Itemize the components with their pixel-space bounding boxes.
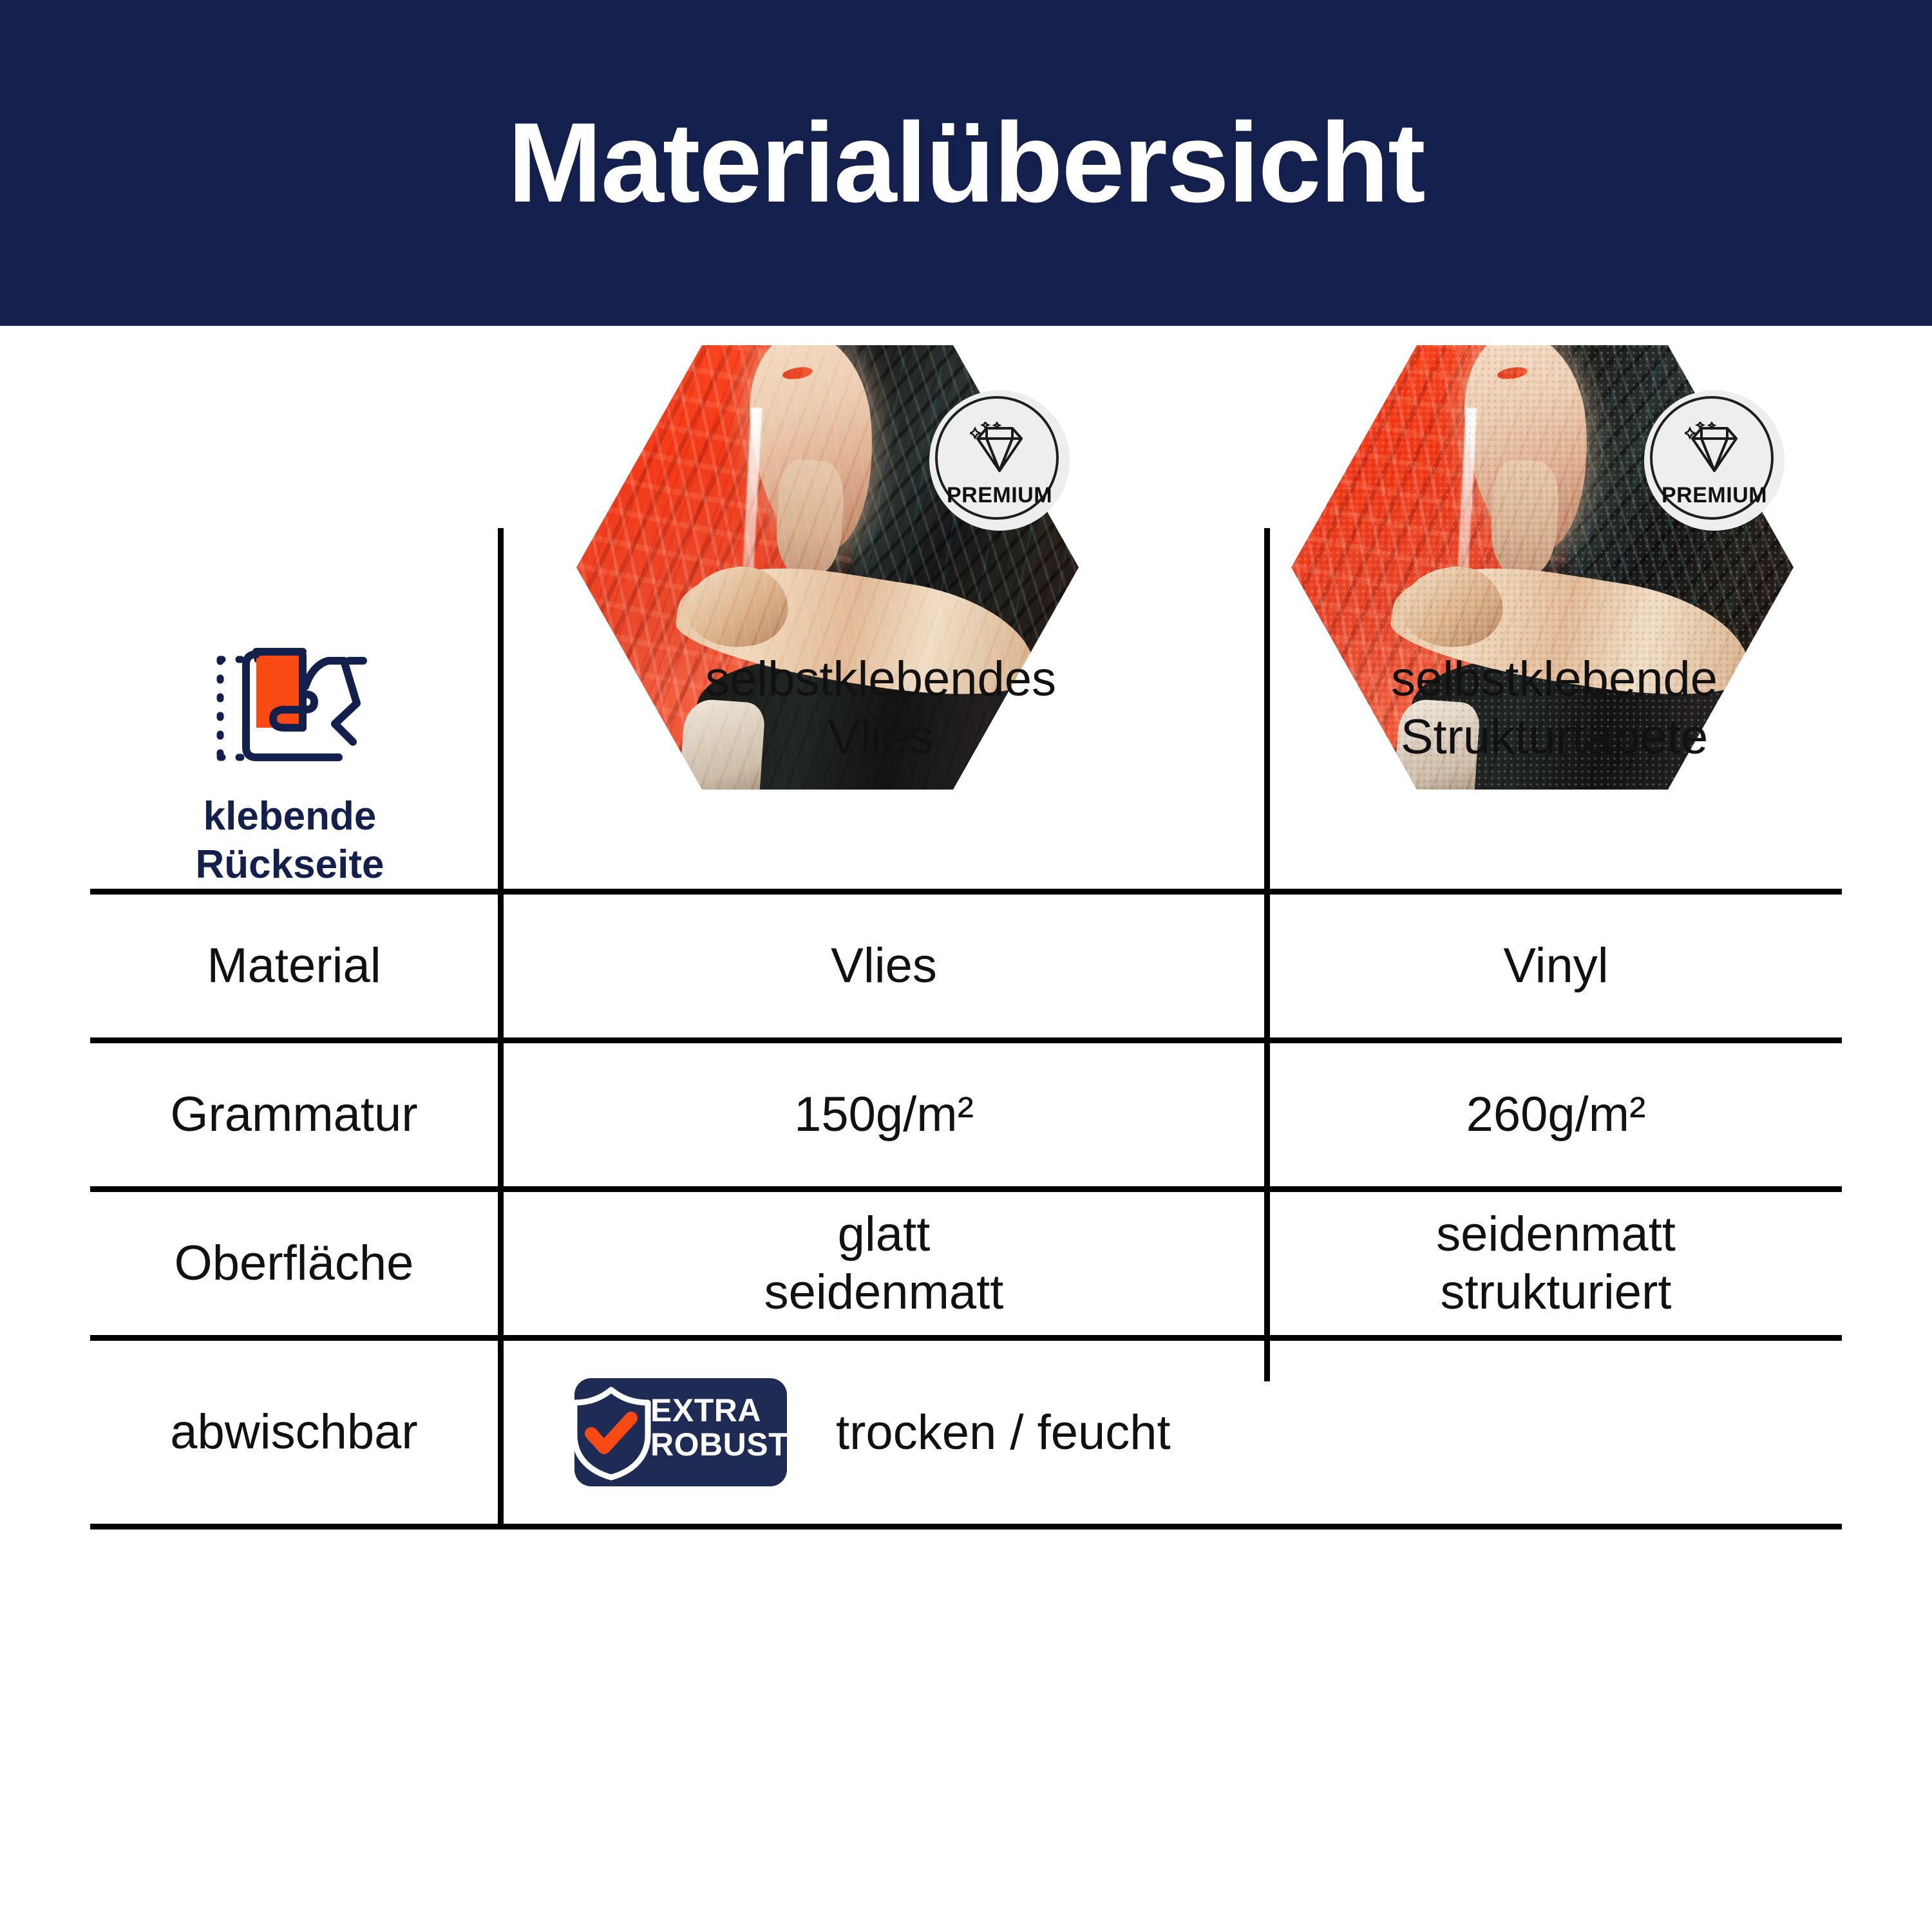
backing-label: klebende Rückseite [196, 793, 384, 889]
extra-robust-badge: EXTRA ROBUST [574, 1378, 787, 1486]
page-header: Materialübersicht [0, 0, 1932, 326]
page-title: Materialübersicht [507, 106, 1424, 220]
header-struktur-line2: Strukturtapete [1391, 708, 1718, 766]
cell-oberflaeche-vinyl-line1: seidenmatt [1436, 1206, 1676, 1264]
column-divider-2 [1264, 528, 1270, 1381]
cell-grammatur-vinyl: 260g/m² [1270, 1043, 1842, 1186]
cell-material-vinyl-text: Vinyl [1503, 937, 1608, 995]
row-label-abwischbar-text: abwischbar [170, 1403, 417, 1461]
cell-abwischbar-value: EXTRA ROBUST trocken / feucht [574, 1341, 1842, 1524]
abwischbar-value-text: trocken / feucht [836, 1405, 1171, 1461]
premium-badge-label: PREMIUM [1662, 483, 1767, 508]
backing-cell: klebende Rückseite [90, 528, 489, 889]
row-divider-3 [90, 1186, 1842, 1192]
row-label-abwischbar: abwischbar [90, 1341, 498, 1524]
extra-robust-label: EXTRA ROBUST [650, 1394, 788, 1461]
row-label-grammatur-text: Grammatur [170, 1086, 417, 1144]
column-header-strukturtapete: selbstklebende Strukturtapete [1267, 528, 1842, 889]
column-header-vlies: selbstklebendes Vlies [500, 528, 1261, 889]
diamond-icon [970, 422, 1029, 480]
cell-oberflaeche-vinyl-line2: strukturiert [1436, 1264, 1676, 1321]
backing-label-line1: klebende [196, 793, 384, 840]
cell-material-vlies-text: Vlies [831, 937, 937, 995]
backing-label-line2: Rückseite [196, 841, 384, 889]
extra-robust-line1: EXTRA [650, 1394, 788, 1428]
premium-badge: PREMIUM [929, 390, 1070, 531]
header-struktur-line1: selbstklebende [1391, 650, 1718, 708]
row-label-oberflaeche-text: Oberfläche [175, 1235, 414, 1293]
premium-badge-label: PREMIUM [947, 483, 1052, 508]
column-divider-1 [498, 528, 504, 1526]
cell-grammatur-vlies-text: 150g/m² [794, 1086, 974, 1144]
cell-oberflaeche-vinyl: seidenmatt strukturiert [1270, 1192, 1842, 1335]
row-divider-4 [90, 1335, 1842, 1341]
cell-grammatur-vlies: 150g/m² [504, 1043, 1264, 1186]
shield-check-icon [563, 1386, 659, 1484]
premium-badge: PREMIUM [1644, 390, 1785, 531]
cell-oberflaeche-vlies: glatt seidenmatt [504, 1192, 1264, 1335]
cell-grammatur-vinyl-text: 260g/m² [1466, 1086, 1646, 1144]
row-divider-1 [90, 889, 1842, 895]
cell-oberflaeche-vlies-line2: seidenmatt [764, 1264, 1004, 1321]
diamond-icon [1685, 422, 1744, 480]
cell-material-vlies: Vlies [504, 895, 1264, 1037]
cell-oberflaeche-vlies-line1: glatt [764, 1206, 1004, 1264]
row-divider-2 [90, 1037, 1842, 1043]
extra-robust-line2: ROBUST [650, 1428, 788, 1462]
row-label-oberflaeche: Oberfläche [90, 1192, 498, 1335]
row-label-material: Material [90, 895, 498, 1037]
row-divider-5 [90, 1524, 1842, 1529]
header-vlies-line2: Vlies [705, 708, 1056, 766]
material-overview-page: Materialübersicht [0, 0, 1932, 1932]
row-label-grammatur: Grammatur [90, 1043, 498, 1186]
cell-material-vinyl: Vinyl [1270, 895, 1842, 1037]
row-label-material-text: Material [207, 937, 381, 995]
header-vlies-line1: selbstklebendes [705, 650, 1056, 708]
peel-sticker-hand-icon [206, 638, 374, 782]
